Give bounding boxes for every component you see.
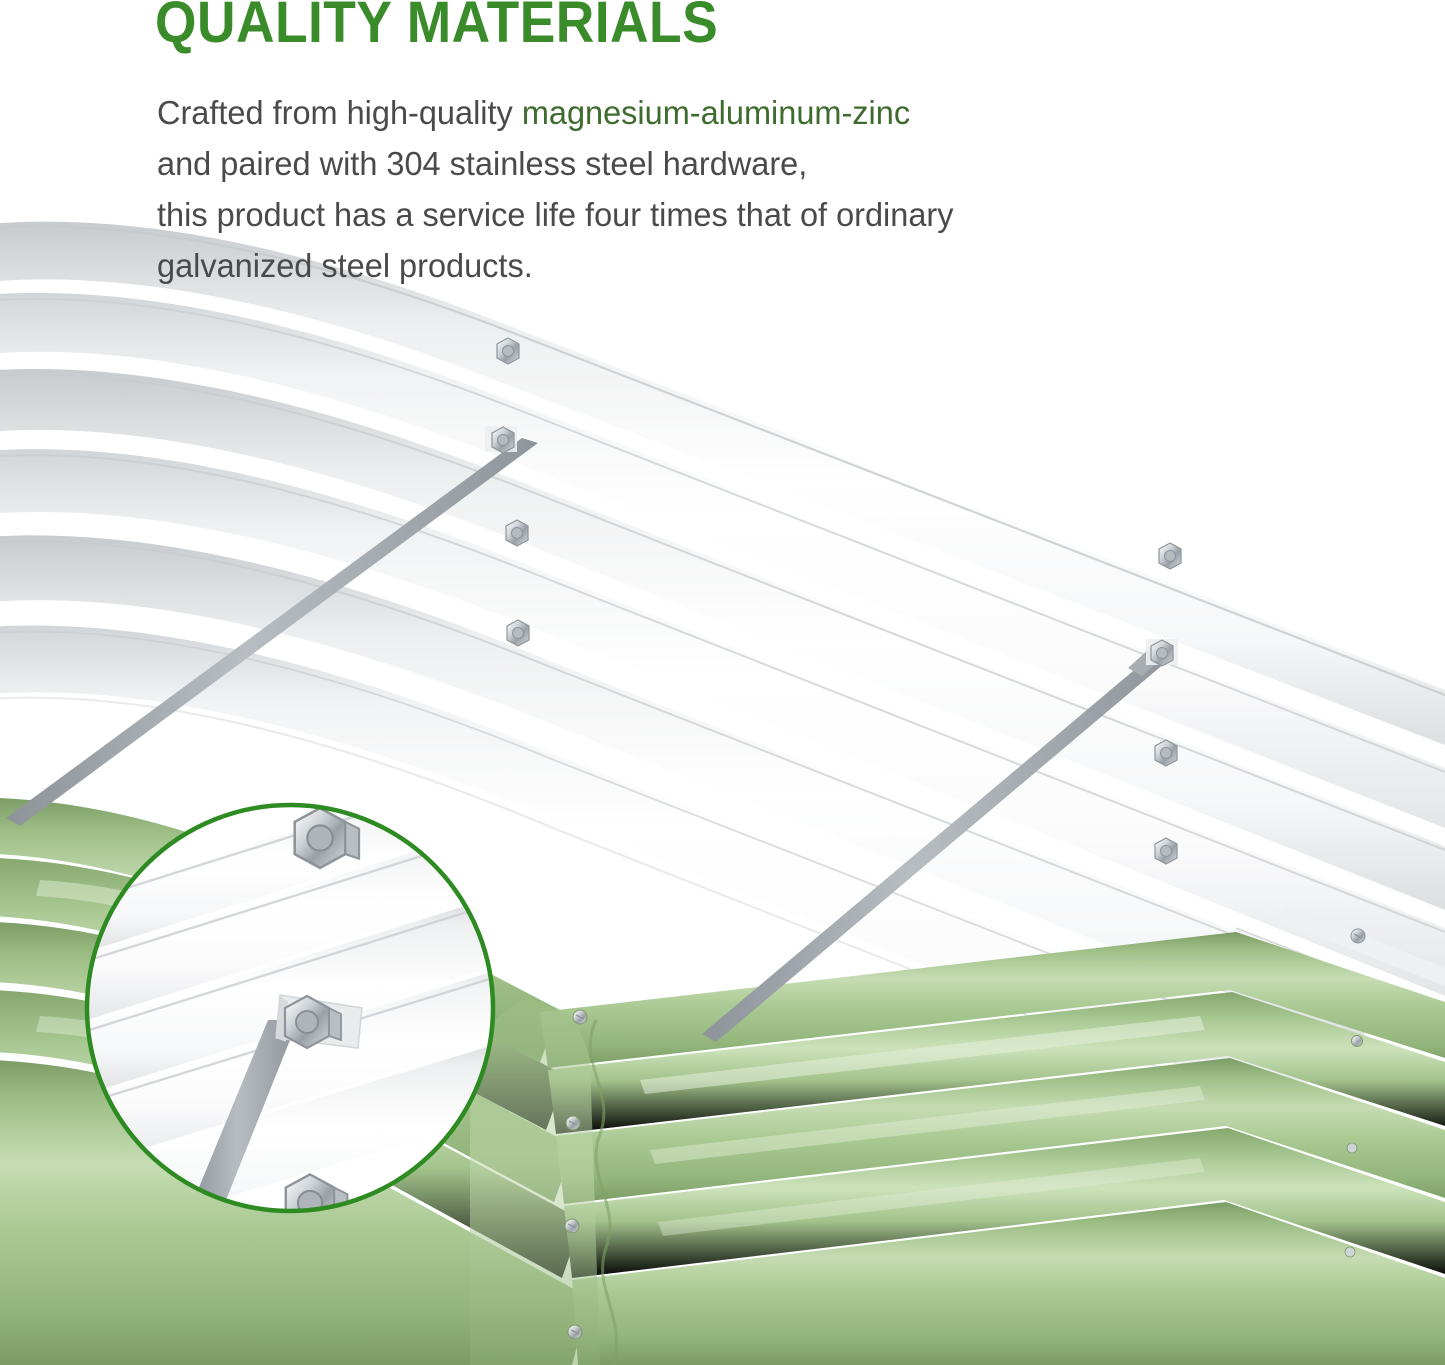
page-title: QUALITY MATERIALS — [155, 0, 1185, 54]
feature-description: Crafted from high-quality magnesium-alum… — [157, 88, 1241, 292]
product-feature-image: QUALITY MATERIALS Crafted from high-qual… — [0, 0, 1445, 1365]
feature-text-block: QUALITY MATERIALS Crafted from high-qual… — [155, 0, 1275, 292]
description-line-3: this product has a service life four tim… — [157, 190, 1241, 241]
description-line-1-prefix: Crafted from high-quality — [157, 95, 522, 132]
description-line-2: and paired with 304 stainless steel hard… — [157, 139, 1241, 190]
description-line-1: Crafted from high-quality magnesium-alum… — [157, 88, 1241, 139]
material-highlight: magnesium-aluminum-zinc — [522, 95, 910, 132]
description-line-4: galvanized steel products. — [157, 241, 1241, 292]
